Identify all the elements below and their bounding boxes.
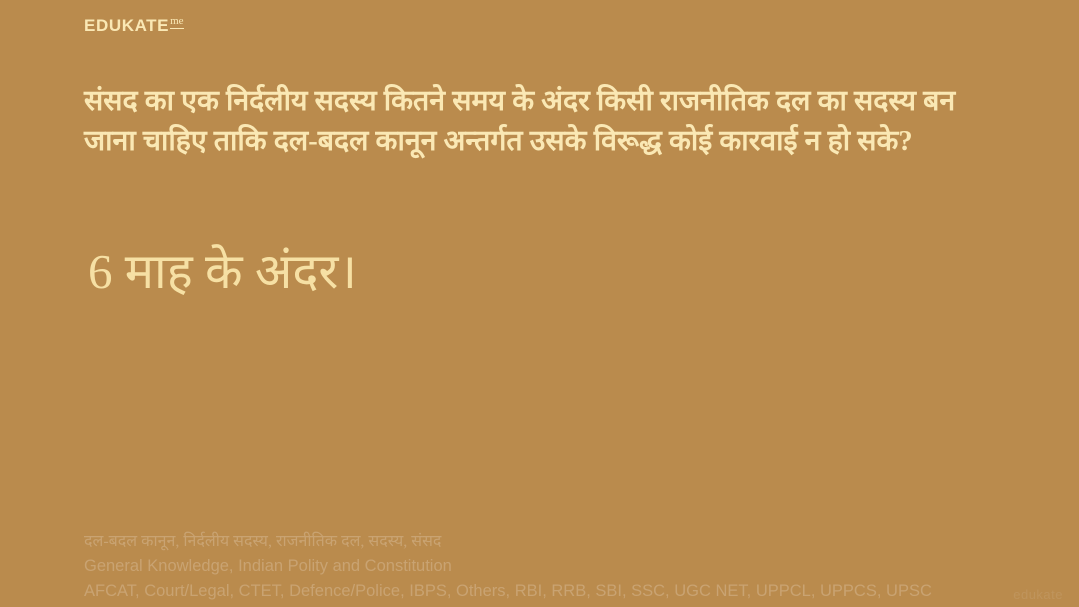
footer-keyword-tags: दल-बदल कानून, निर्दलीय सदस्य, राजनीतिक द… bbox=[84, 529, 984, 554]
watermark: edukate bbox=[1013, 587, 1063, 602]
answer-text: 6 माह के अंदर। bbox=[88, 240, 988, 304]
footer-subjects: General Knowledge, Indian Polity and Con… bbox=[84, 554, 984, 579]
footer-exams: AFCAT, Court/Legal, CTET, Defence/Police… bbox=[84, 579, 984, 604]
footer: दल-बदल कानून, निर्दलीय सदस्य, राजनीतिक द… bbox=[84, 529, 984, 604]
logo-wordmark: EDUKATE bbox=[84, 17, 169, 34]
brand-logo: EDUKATE me bbox=[84, 17, 184, 34]
logo-superscript-me: me bbox=[170, 16, 183, 29]
question-text: संसद का एक निर्दलीय सदस्य कितने समय के अ… bbox=[84, 82, 994, 162]
slide-canvas: EDUKATE me संसद का एक निर्दलीय सदस्य कित… bbox=[0, 0, 1079, 607]
